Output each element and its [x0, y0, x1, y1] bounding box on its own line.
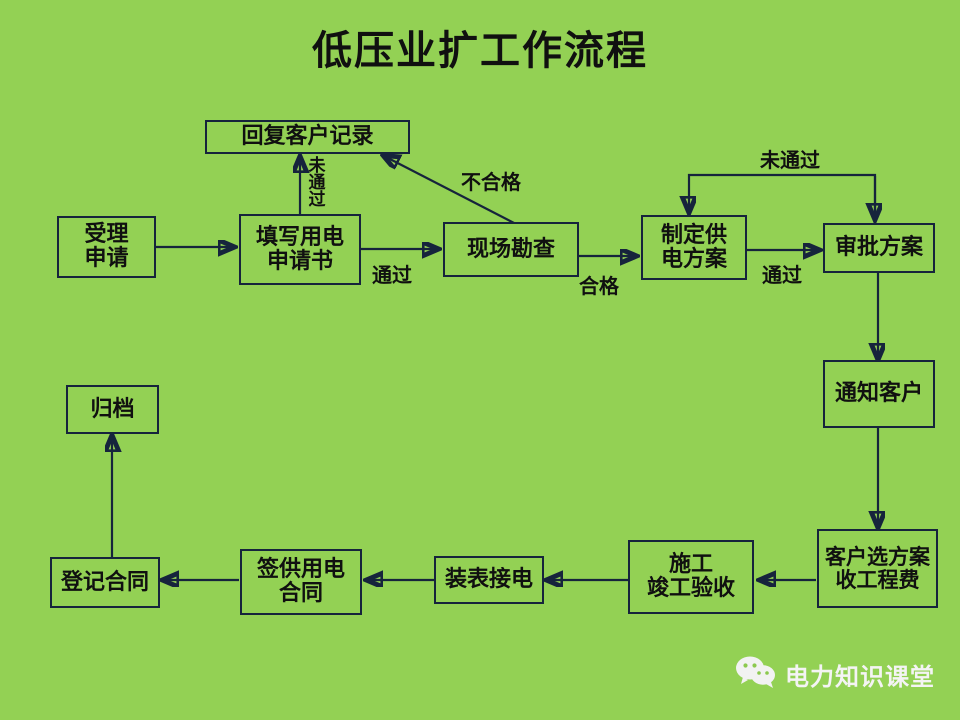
node-fill-application[interactable]: 填写用电 申请书: [239, 214, 361, 285]
node-reply-record-line-0: 回复客户记录: [241, 125, 373, 149]
node-fill-application-line-0: 填写用电: [256, 226, 344, 250]
edge-label-not-qualified: 不合格: [461, 166, 521, 195]
node-install-meter-line-0: 装表接电: [445, 568, 533, 592]
watermark-text: 电力知识课堂: [785, 657, 935, 692]
edge-label-not-passed-1: 未通过: [307, 158, 327, 209]
node-make-plan-line-0: 制定供: [661, 224, 727, 248]
node-accept-request-line-1: 申请: [84, 247, 128, 271]
node-install-meter[interactable]: 装表接电: [434, 556, 544, 604]
node-approve-plan[interactable]: 审批方案: [823, 223, 935, 273]
node-accept-request[interactable]: 受理 申请: [57, 216, 156, 278]
node-approve-plan-line-0: 审批方案: [835, 236, 923, 260]
node-site-survey[interactable]: 现场勘查: [443, 222, 579, 277]
wechat-icon: [735, 655, 777, 693]
node-customer-select-line-1: 收工程费: [836, 569, 920, 592]
node-accept-request-line-0: 受理: [84, 223, 128, 247]
page-title: 低压业扩工作流程: [0, 18, 960, 76]
node-notify-customer-line-0: 通知客户: [835, 382, 923, 406]
node-fill-application-line-1: 申请书: [267, 250, 333, 274]
edge-label-not-passed-2: 未通过: [760, 144, 820, 173]
edge-label-passed-1: 通过: [372, 259, 412, 288]
node-sign-contract-line-1: 合同: [279, 582, 323, 606]
node-construction-line-1: 竣工验收: [647, 577, 735, 601]
node-register-contract-line-0: 登记合同: [61, 571, 149, 595]
node-sign-contract-line-0: 签供用电: [257, 558, 345, 582]
flowchart-canvas: 低压业扩工作流程: [0, 0, 960, 720]
connector-layer: [0, 0, 960, 720]
node-reply-record[interactable]: 回复客户记录: [205, 120, 410, 154]
node-make-plan[interactable]: 制定供 电方案: [641, 215, 747, 280]
node-customer-select-line-0: 客户选方案: [825, 546, 930, 569]
node-sign-contract[interactable]: 签供用电 合同: [240, 549, 362, 615]
node-make-plan-line-1: 电方案: [661, 248, 727, 272]
node-register-contract[interactable]: 登记合同: [50, 557, 160, 608]
watermark: 电力知识课堂: [735, 655, 935, 693]
node-site-survey-line-0: 现场勘查: [467, 238, 555, 262]
edge-label-qualified: 合格: [579, 270, 619, 299]
node-archive[interactable]: 归档: [66, 385, 159, 434]
node-construction-line-0: 施工: [669, 553, 713, 577]
node-notify-customer[interactable]: 通知客户: [823, 360, 935, 428]
node-archive-line-0: 归档: [90, 398, 134, 422]
node-customer-select[interactable]: 客户选方案 收工程费: [817, 529, 938, 608]
node-construction[interactable]: 施工 竣工验收: [628, 540, 754, 614]
edge-label-passed-2: 通过: [762, 259, 802, 288]
